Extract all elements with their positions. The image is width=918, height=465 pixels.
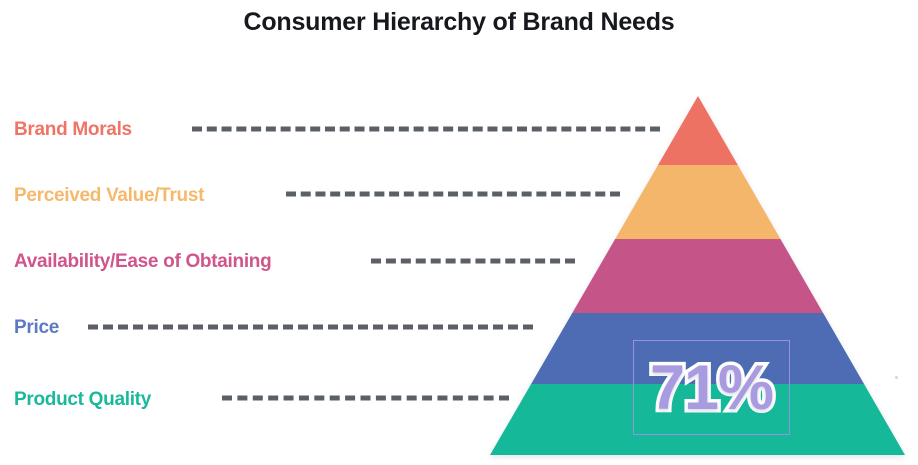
chart-canvas: Consumer Hierarchy of Brand Needs Brand … xyxy=(0,0,918,465)
level-label-perceived-value-trust: Perceived Value/Trust xyxy=(14,185,204,207)
level-label-product-quality: Product Quality xyxy=(14,389,151,411)
leader-line-availability-ease-of-obtaining xyxy=(371,259,575,264)
level-label-brand-morals: Brand Morals xyxy=(14,119,132,141)
leader-line-perceived-value-trust xyxy=(286,192,620,197)
pyramid-band-brand-morals[interactable] xyxy=(658,96,738,165)
level-label-price: Price xyxy=(14,317,59,339)
decorative-dot xyxy=(895,376,898,379)
leader-line-brand-morals xyxy=(192,127,660,132)
percentage-callout: 71% xyxy=(633,340,790,435)
leader-line-product-quality xyxy=(222,396,509,401)
leader-line-price xyxy=(88,325,533,330)
pyramid-band-perceived-value-trust[interactable] xyxy=(615,165,780,239)
pyramid-band-availability-ease-of-obtaining[interactable] xyxy=(572,239,823,313)
level-label-availability-ease-of-obtaining: Availability/Ease of Obtaining xyxy=(14,251,271,273)
